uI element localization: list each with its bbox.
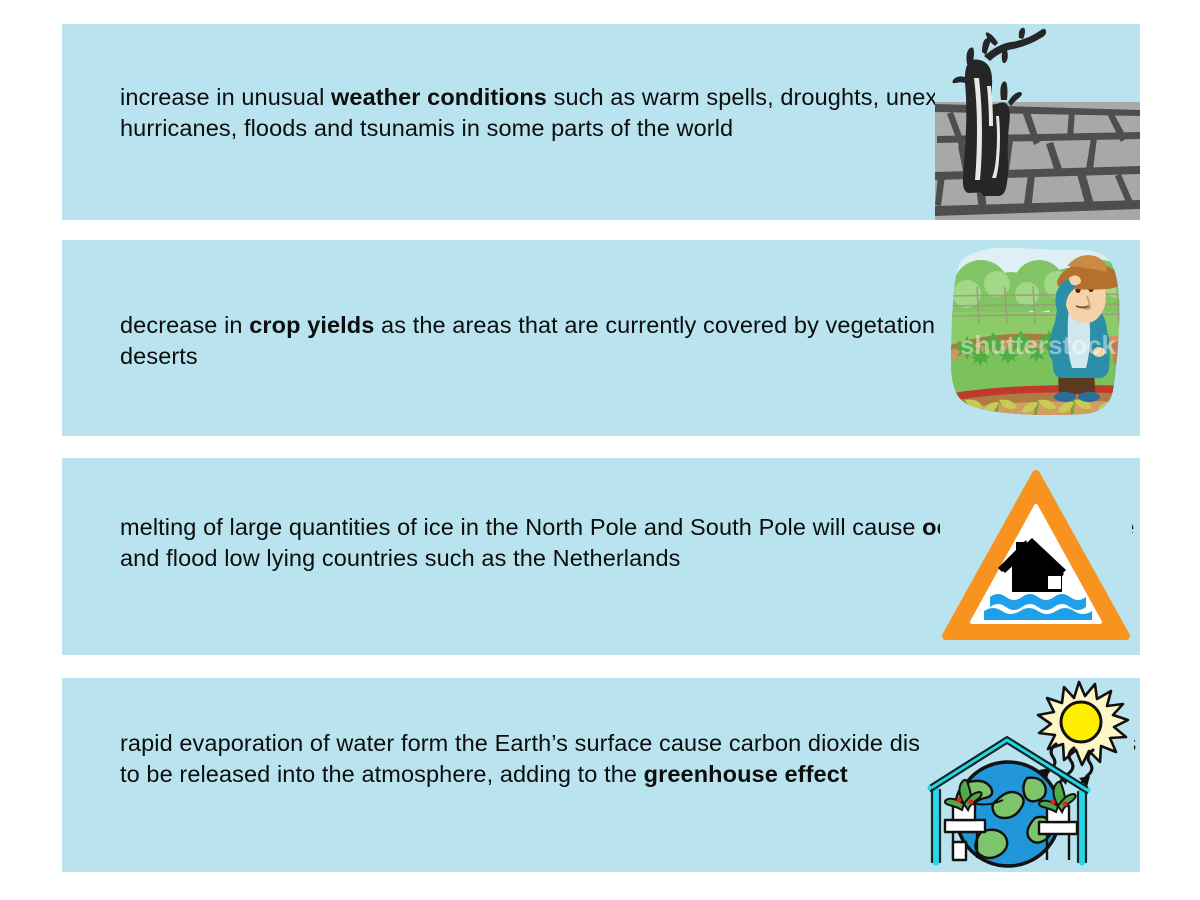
effect-panel-ocean-levels: melting of large quantities of ice in th… <box>62 458 1140 655</box>
worried-farmer-failing-crops-image: shutterstock <box>939 244 1137 434</box>
effect-panel-greenhouse-effect: rapid evaporation of water form the Eart… <box>62 678 1140 872</box>
flood-warning-sign-image <box>940 464 1132 650</box>
panel-keyword: greenhouse effect <box>644 761 848 787</box>
panel-text-lead: increase in unusual <box>120 84 331 110</box>
greenhouse-effect-earth-image <box>919 678 1134 872</box>
drought-cracked-earth-dead-tree-image <box>935 24 1140 220</box>
slide-canvas: increase in unusual weather conditions s… <box>0 0 1200 900</box>
effect-panel-weather-conditions: increase in unusual weather conditions s… <box>62 24 1140 220</box>
panel-keyword: crop yields <box>249 312 374 338</box>
panel-keyword: weather conditions <box>331 84 547 110</box>
panel-text-lead: melting of large quantities of ice in th… <box>120 514 922 540</box>
effect-panel-crop-yields: decrease in crop yields as the areas tha… <box>62 240 1140 436</box>
panel-text-lead: decrease in <box>120 312 249 338</box>
watermark-text: shutterstock <box>960 330 1117 360</box>
